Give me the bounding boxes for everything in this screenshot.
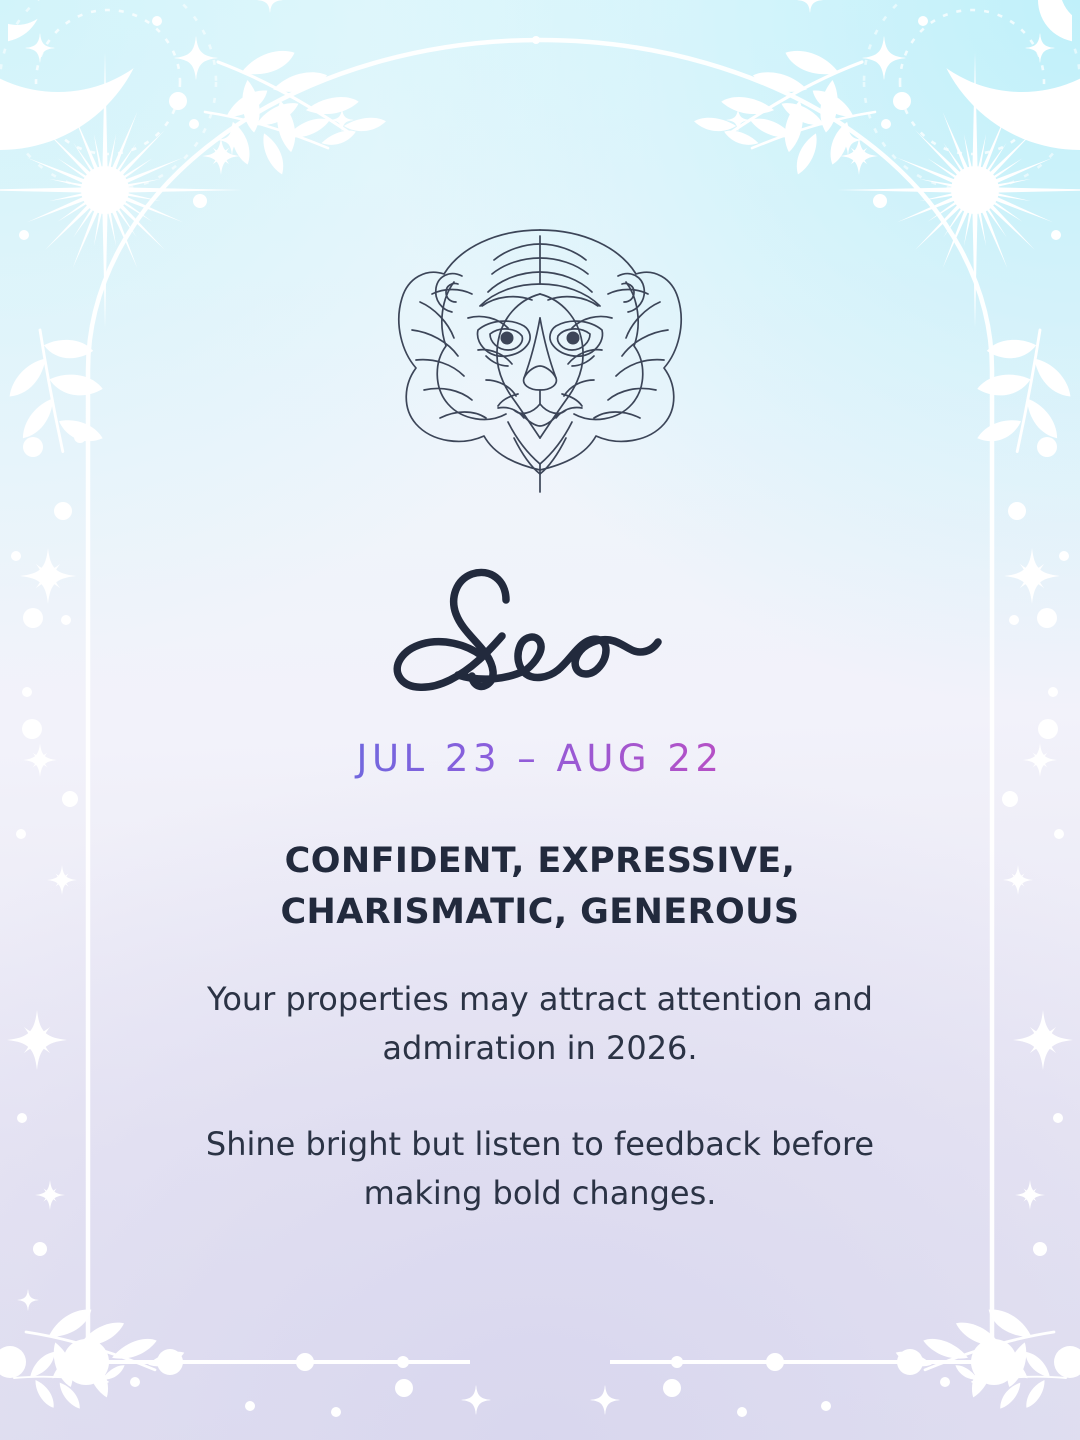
lion-head-line-art-icon bbox=[390, 222, 690, 497]
zodiac-poster: JUL 23 – AUG 22 CONFIDENT, EXPRESSIVE, C… bbox=[0, 0, 1080, 1440]
ornament-layer bbox=[0, 0, 1080, 1440]
ornament-side-left bbox=[7, 330, 184, 1422]
ornament-cluster-top-left bbox=[0, 0, 405, 490]
date-range: JUL 23 – AUG 22 bbox=[0, 737, 1080, 780]
horoscope-paragraph-1: Your properties may attract attention an… bbox=[160, 975, 920, 1072]
bottom-beaded-divider bbox=[0, 1223, 1080, 1440]
traits-line: CONFIDENT, EXPRESSIVE, CHARISMATIC, GENE… bbox=[160, 836, 920, 938]
sign-name-script bbox=[0, 560, 1080, 710]
horoscope-paragraph-2: Shine bright but listen to feedback befo… bbox=[160, 1120, 920, 1217]
ornament-side-right bbox=[896, 330, 1073, 1422]
